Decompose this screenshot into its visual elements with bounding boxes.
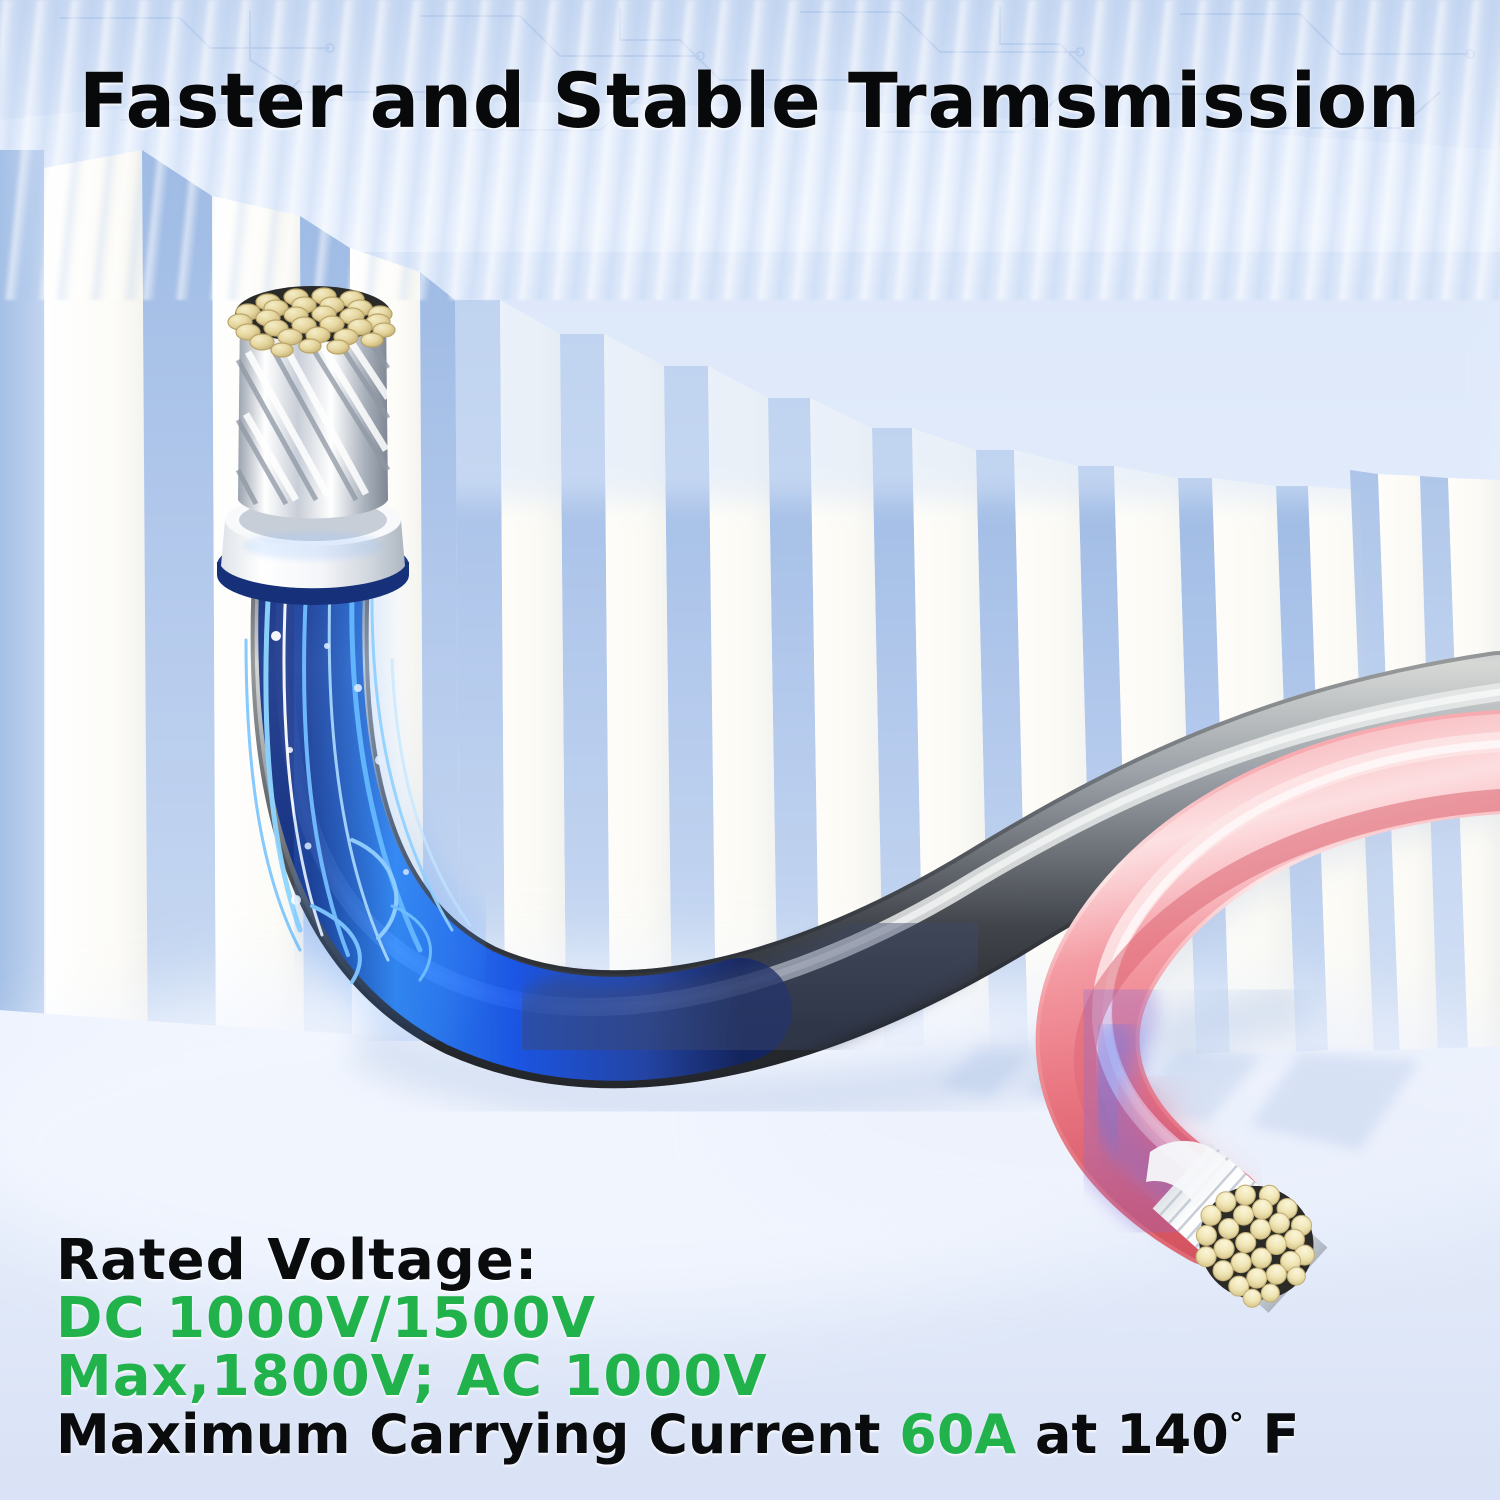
degree-symbol: ° — [1229, 1407, 1244, 1442]
black-cable-cut-end — [217, 286, 409, 605]
promo-image: Faster and Stable Tramsmission Rated Vol… — [0, 0, 1500, 1500]
page-title: Faster and Stable Tramsmission — [30, 56, 1470, 145]
current-temp: 140 — [1116, 1403, 1229, 1466]
blue-energy-glow — [246, 565, 940, 1039]
current-mid: at — [1035, 1403, 1097, 1466]
specs-block: Rated Voltage: DC 1000V/1500V Max,1800V;… — [56, 1232, 1436, 1463]
max-carrying-current-line: Maximum Carrying Current 60A at 140° F — [56, 1407, 1436, 1463]
current-unit: F — [1263, 1403, 1300, 1466]
rated-voltage-max-ac: Max,1800V; AC 1000V — [56, 1348, 1436, 1406]
current-prefix: Maximum Carrying Current — [56, 1403, 880, 1466]
current-value: 60A — [899, 1403, 1016, 1466]
rated-voltage-label: Rated Voltage: — [56, 1232, 1436, 1290]
rated-voltage-dc: DC 1000V/1500V — [56, 1290, 1436, 1348]
black-cable — [217, 286, 1500, 1101]
